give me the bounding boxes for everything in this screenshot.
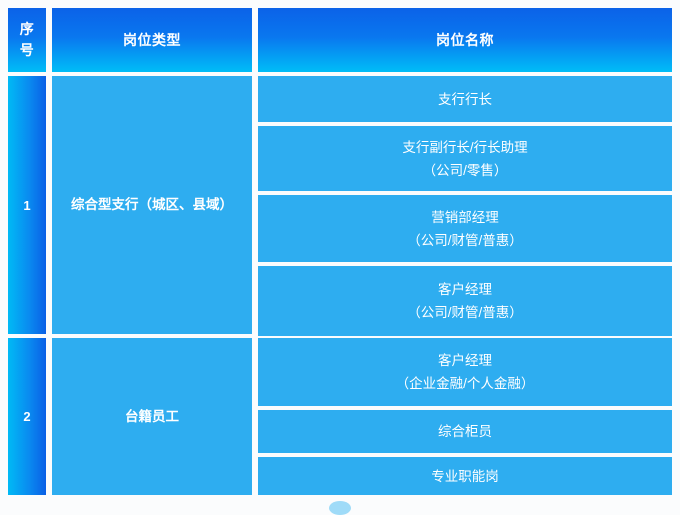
row-position-type: 台籍员工 — [52, 338, 252, 495]
position-subtitle: （公司/财管/普惠） — [407, 301, 523, 324]
column-header-sequence: 序号 — [8, 8, 46, 72]
position-title: 客户经理 — [438, 349, 492, 372]
position-title: 营销部经理 — [431, 206, 499, 229]
position-title: 专业职能岗 — [431, 465, 499, 488]
position-title: 支行副行长/行长助理 — [402, 136, 527, 159]
row-position-type: 综合型支行（城区、县域） — [52, 76, 252, 334]
position-name-cell: 支行行长 — [258, 76, 672, 122]
bottom-clipped-arc-decoration — [329, 501, 351, 515]
table-row-group-2: 2 台籍员工 客户经理 （企业金融/个人金融） 综合柜员 专业职能岗 — [8, 338, 672, 495]
position-name-cell: 支行副行长/行长助理 （公司/零售） — [258, 126, 672, 191]
position-name-cell: 营销部经理 （公司/财管/普惠） — [258, 195, 672, 262]
column-header-position-name: 岗位名称 — [258, 8, 672, 72]
position-title: 综合柜员 — [438, 420, 492, 443]
position-title: 客户经理 — [438, 278, 492, 301]
row-sequence-number: 1 — [8, 76, 46, 334]
position-name-cell: 专业职能岗 — [258, 457, 672, 495]
position-subtitle: （公司/零售） — [423, 159, 508, 182]
position-name-list: 客户经理 （企业金融/个人金融） 综合柜员 专业职能岗 — [258, 338, 672, 495]
position-name-cell: 客户经理 （公司/财管/普惠） — [258, 266, 672, 336]
position-name-cell: 综合柜员 — [258, 410, 672, 453]
position-name-list: 支行行长 支行副行长/行长助理 （公司/零售） 营销部经理 （公司/财管/普惠）… — [258, 76, 672, 334]
row-sequence-number: 2 — [8, 338, 46, 495]
position-subtitle: （企业金融/个人金融） — [396, 372, 535, 395]
table-body: 1 综合型支行（城区、县域） 支行行长 支行副行长/行长助理 （公司/零售） 营… — [8, 72, 672, 497]
table-header-row: 序号 岗位类型 岗位名称 — [8, 8, 672, 72]
table-row-group-1: 1 综合型支行（城区、县域） 支行行长 支行副行长/行长助理 （公司/零售） 营… — [8, 76, 672, 334]
position-title: 支行行长 — [438, 88, 492, 111]
job-positions-table: 序号 岗位类型 岗位名称 1 综合型支行（城区、县域） 支行行长 支行副行长/行… — [8, 8, 672, 497]
position-subtitle: （公司/财管/普惠） — [407, 229, 523, 252]
position-name-cell: 客户经理 （企业金融/个人金融） — [258, 338, 672, 406]
column-header-position-type: 岗位类型 — [52, 8, 252, 72]
